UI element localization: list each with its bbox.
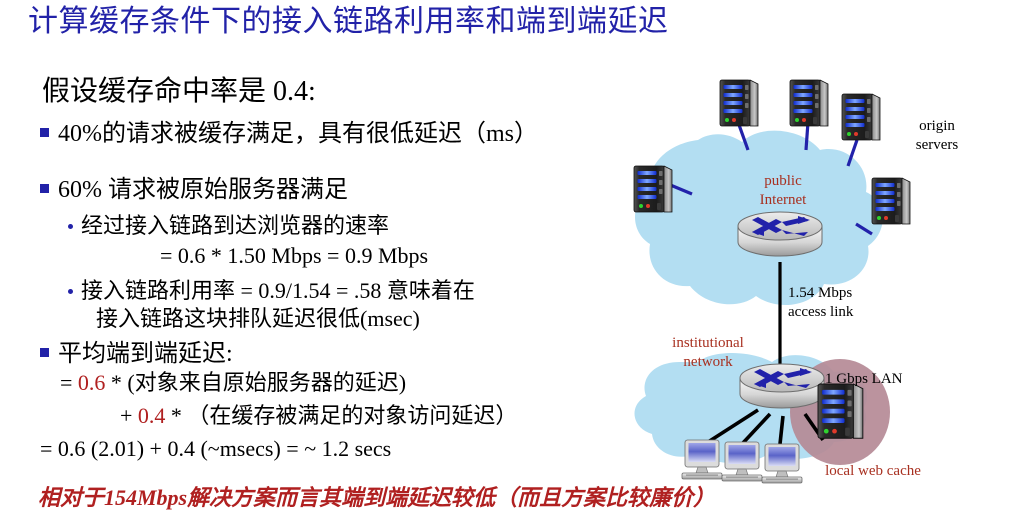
origin-server-1	[634, 166, 672, 212]
square-bullet-icon	[40, 348, 49, 357]
dot-bullet-icon	[68, 289, 73, 294]
lead-statement: 假设缓存命中率是 0.4:	[42, 76, 316, 108]
term-suffix: * (对象来自原始服务器的延迟)	[105, 370, 406, 395]
label-lan-speed: 1 Gbps LAN	[825, 370, 935, 389]
label-line: 1.54 Mbps	[788, 284, 898, 303]
label-line: institutional	[648, 334, 768, 353]
label-local-web-cache: local web cache	[798, 462, 948, 481]
square-bullet-icon	[40, 184, 49, 193]
bullet-cache-hit-40: 40%的请求被缓存满足，具有很低延迟（ms）	[40, 120, 538, 148]
average-delay-term-1: = 0.6 * (对象来自原始服务器的延迟)	[60, 370, 406, 396]
link-utilization-continued: 接入链路这块排队延迟很低(msec)	[96, 306, 420, 332]
origin-server-2	[720, 80, 758, 126]
label-line: servers	[892, 136, 982, 155]
bullet-label: 平均端到端延迟:	[58, 341, 233, 367]
local-cache-server	[818, 384, 863, 438]
label-line: network	[648, 353, 768, 372]
term-suffix: * （在缓存被满足的对象访问延迟）	[165, 403, 517, 428]
access-rate-calculation: = 0.6 * 1.50 Mbps = 0.9 Mbps	[160, 243, 428, 269]
origin-server-4	[842, 94, 880, 140]
bullet-label: 接入链路利用率 = 0.9/1.54 = .58 意味着在	[81, 278, 475, 303]
label-line: Internet	[738, 191, 828, 210]
origin-server-5	[872, 178, 910, 224]
term-coefficient: 0.4	[138, 403, 166, 428]
bullet-average-delay: 平均端到端延迟:	[40, 340, 233, 368]
footer-note: 相对于154Mbps解决方案而言其端到端延迟较低（而且方案比较廉价）	[38, 484, 715, 512]
origin-server-3	[790, 80, 828, 126]
average-delay-result: = 0.6 (2.01) + 0.4 (~msecs) = ~ 1.2 secs	[40, 436, 391, 462]
workstation-1	[682, 440, 722, 479]
bullet-label: 40%的请求被缓存满足，具有很低延迟（ms）	[58, 121, 538, 147]
term-prefix: +	[120, 403, 138, 428]
workstation-3	[762, 444, 802, 483]
workstation-2	[722, 442, 762, 481]
label-line: public	[738, 172, 828, 191]
label-origin-servers: origin servers	[892, 117, 982, 155]
label-institutional-network: institutional network	[648, 334, 768, 372]
network-diagram: public Internet origin servers 1.54 Mbps…	[620, 62, 1017, 502]
term-prefix: =	[60, 370, 78, 395]
label-public-internet: public Internet	[738, 172, 828, 210]
bullet-label: 经过接入链路到达浏览器的速率	[81, 213, 389, 238]
label-line: access link	[788, 303, 898, 322]
bullet-origin-60: 60% 请求被原始服务器满足	[40, 176, 348, 204]
bullet-access-rate: 经过接入链路到达浏览器的速率	[68, 213, 389, 239]
label-line: origin	[892, 117, 982, 136]
dot-bullet-icon	[68, 224, 73, 229]
average-delay-term-2: + 0.4 * （在缓存被满足的对象访问延迟）	[120, 403, 517, 429]
term-coefficient: 0.6	[78, 370, 106, 395]
label-access-link: 1.54 Mbps access link	[788, 284, 898, 322]
square-bullet-icon	[40, 128, 49, 137]
bullet-label: 60% 请求被原始服务器满足	[58, 177, 348, 203]
bullet-link-utilization: 接入链路利用率 = 0.9/1.54 = .58 意味着在	[68, 278, 475, 304]
internet-router	[738, 212, 822, 256]
page-title: 计算缓存条件下的接入链路利用率和端到端延迟	[28, 2, 669, 42]
